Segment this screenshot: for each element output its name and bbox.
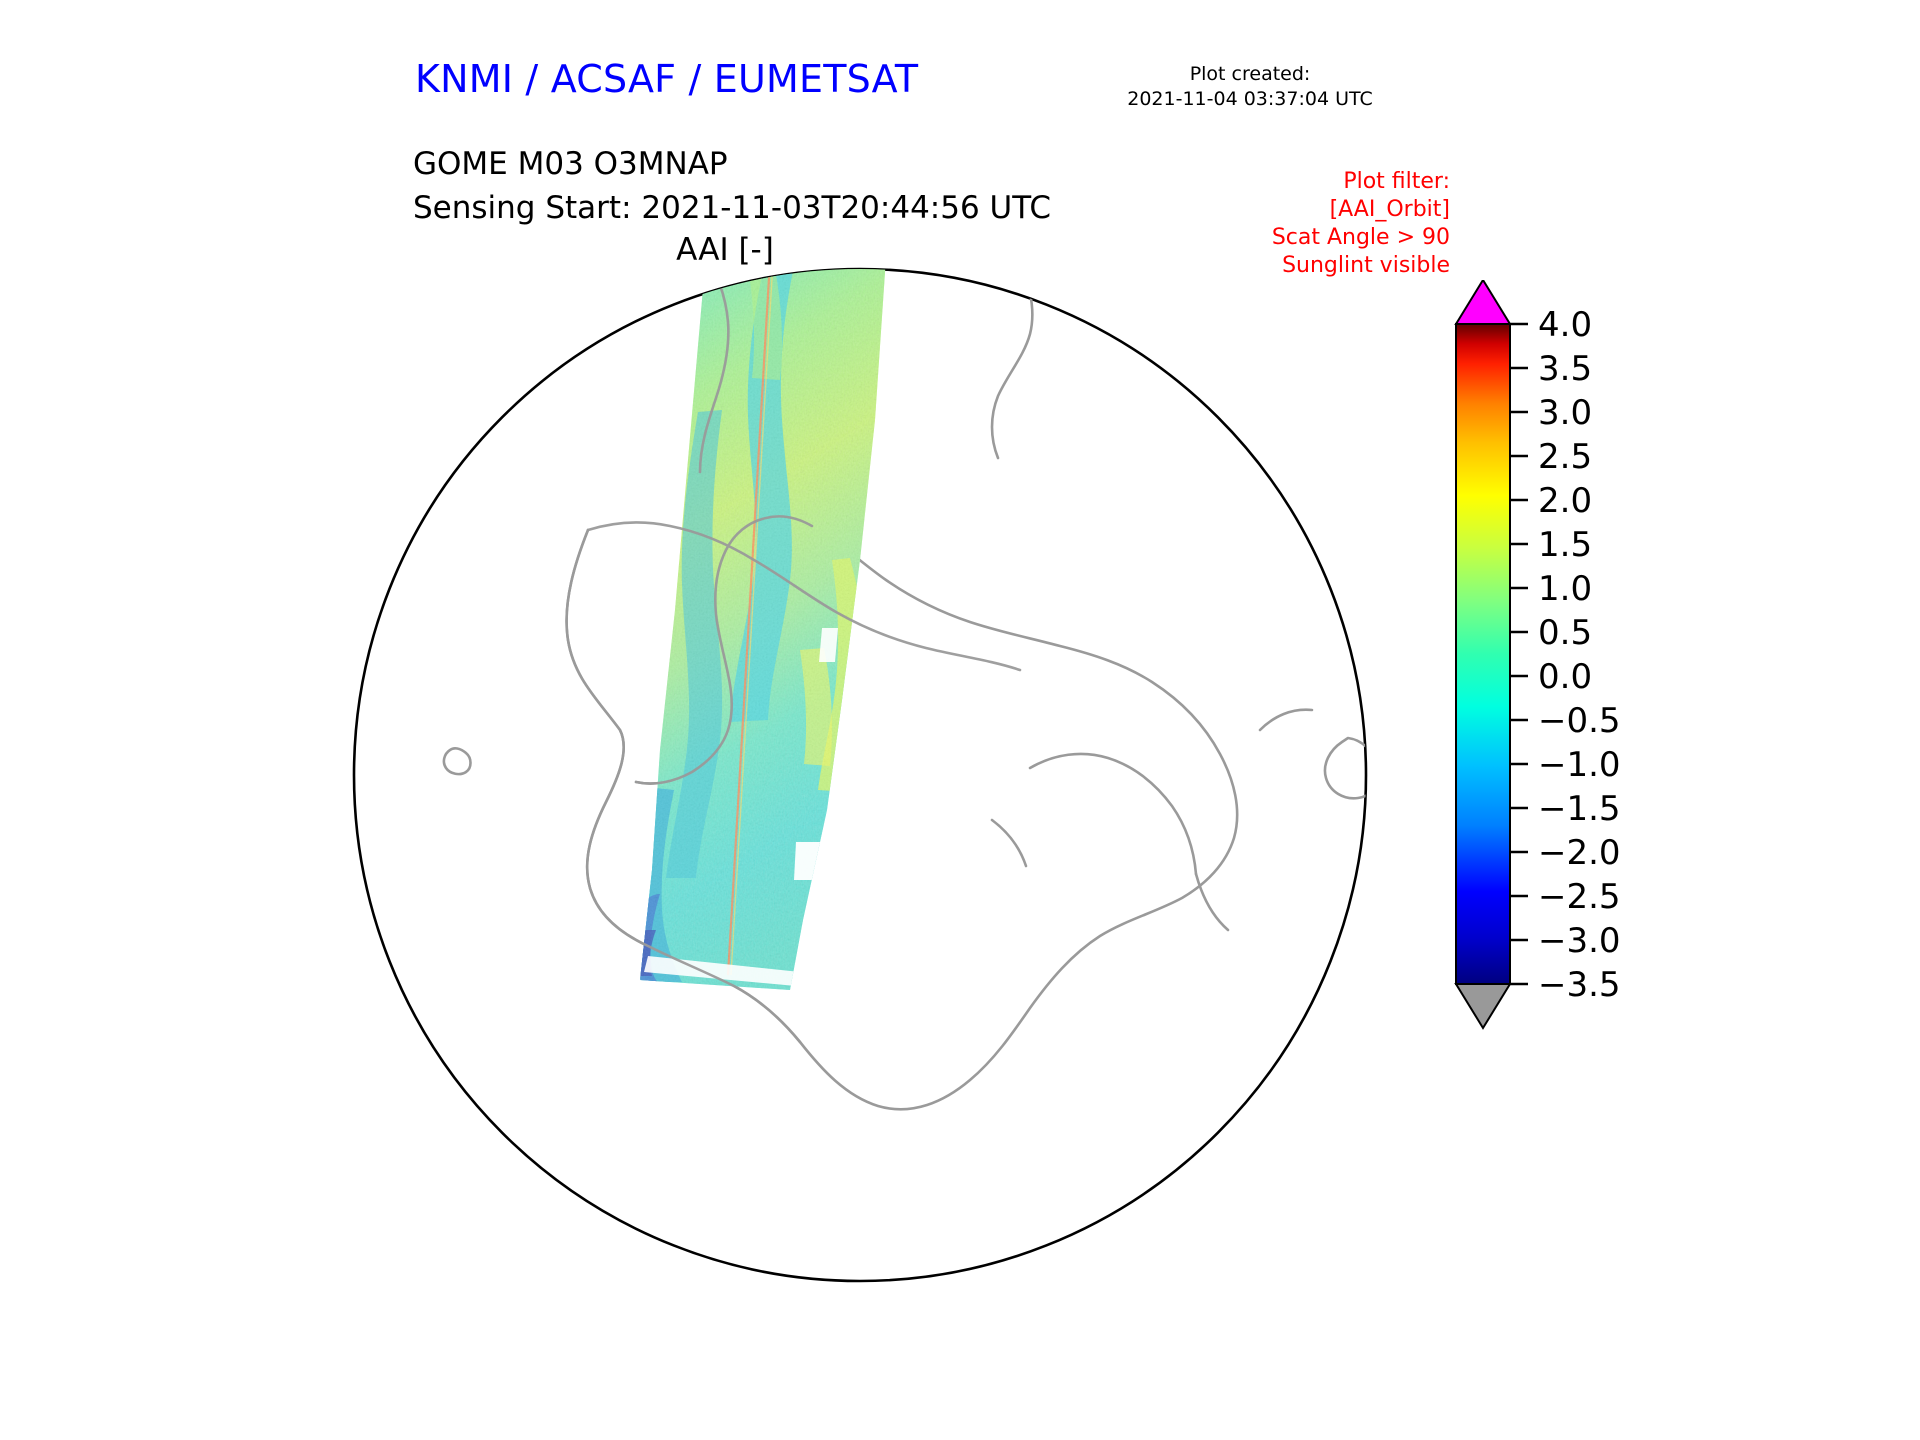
colorbar-tick-label: 3.5 [1538,349,1592,389]
colorbar-under-arrow [1456,984,1510,1028]
product-name: GOME M03 O3MNAP [413,146,728,182]
colorbar-tick-label: −0.5 [1538,701,1621,741]
colorbar-tick-label: −2.0 [1538,833,1621,873]
colorbar-tick-label: 3.0 [1538,393,1592,433]
colorbar-tick-label: −3.0 [1538,921,1621,961]
colorbar-tick-label: 2.0 [1538,481,1592,521]
polar-map [330,230,1450,1350]
plot-filter-label: Plot filter: [1030,168,1450,196]
plot-created-block: Plot created: 2021-11-04 03:37:04 UTC [1040,62,1460,112]
colorbar-tick-label: −1.0 [1538,745,1621,785]
colorbar-gradient [1456,324,1510,984]
plot-created-label: Plot created: [1040,62,1460,87]
plot-filter-dataset: [AAI_Orbit] [1030,196,1450,224]
colorbar-tick-label: 4.0 [1538,305,1592,345]
colorbar-panel: 4.03.53.02.52.01.51.00.50.0−0.5−1.0−1.5−… [1430,280,1690,1070]
colorbar-ticks: 4.03.53.02.52.01.51.00.50.0−0.5−1.0−1.5−… [1510,305,1621,1005]
organisation-title: KNMI / ACSAF / EUMETSAT [415,57,918,101]
colorbar-over-arrow [1456,280,1510,324]
colorbar-tick-label: 0.0 [1538,657,1592,697]
map-panel [330,230,1450,1350]
colorbar-tick-label: 2.5 [1538,437,1592,477]
colorbar-tick-label: 1.0 [1538,569,1592,609]
colorbar: 4.03.53.02.52.01.51.00.50.0−0.5−1.0−1.5−… [1430,280,1690,1070]
colorbar-tick-label: −2.5 [1538,877,1621,917]
colorbar-tick-label: −1.5 [1538,789,1621,829]
colorbar-tick-label: −3.5 [1538,965,1621,1005]
colorbar-tick-label: 0.5 [1538,613,1592,653]
sensing-start: Sensing Start: 2021-11-03T20:44:56 UTC [413,190,1051,226]
plot-created-timestamp: 2021-11-04 03:37:04 UTC [1040,87,1460,112]
colorbar-tick-label: 1.5 [1538,525,1592,565]
